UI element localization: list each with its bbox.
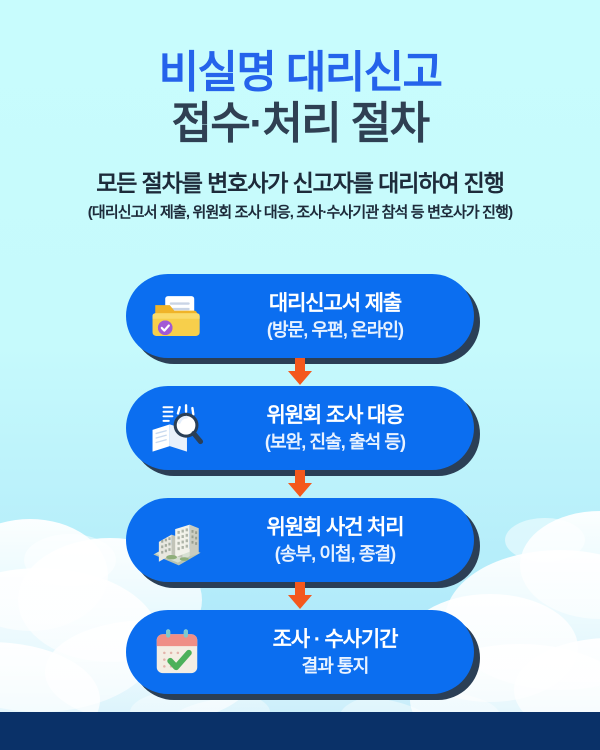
office-building-icon [144,507,210,573]
step-subtitle: (송부, 이첩, 종결) [210,545,460,563]
page-subtitle: 모든 절차를 변호사가 신고자를 대리하여 진행 [0,169,600,197]
step-subtitle: (방문, 우편, 온라인) [210,321,460,339]
step-pill[interactable]: 조사 · 수사기간 결과 통지 [126,610,474,694]
step-subtitle: (보완, 진술, 출석 등) [210,433,460,451]
page-title-line-2: 접수·처리 절차 [0,98,600,150]
step-pill[interactable]: 위원회 조사 대응 (보완, 진술, 출석 등) [126,386,474,470]
process-steps-list: 대리신고서 제출 (방문, 우편, 온라인) [0,274,600,702]
infographic-poster: 비실명 대리신고 접수·처리 절차 모든 절차를 변호사가 신고자를 대리하여 … [0,0,600,750]
down-arrow-icon [285,470,315,498]
magnifier-document-icon [144,395,210,461]
process-step-3: 위원회 사건 처리 (송부, 이첩, 종결) [0,498,600,610]
step-title: 조사 · 수사기간 [210,629,460,650]
page-subnote: (대리신고서 제출, 위원회 조사 대응, 조사·수사기관 참석 등 변호사가 … [0,203,600,223]
down-arrow-icon [285,582,315,610]
bottom-bar [0,712,600,750]
down-arrow-icon [285,358,315,386]
poster-header: 비실명 대리신고 접수·처리 절차 모든 절차를 변호사가 신고자를 대리하여 … [0,0,600,223]
step-text: 조사 · 수사기간 결과 통지 [210,629,474,675]
page-title-line-1: 비실명 대리신고 [0,48,600,98]
step-subtitle: 결과 통지 [210,657,460,675]
process-step-4: 조사 · 수사기간 결과 통지 [0,610,600,702]
process-step-2: 위원회 조사 대응 (보완, 진술, 출석 등) [0,386,600,498]
folder-documents-icon [144,283,210,349]
step-text: 위원회 사건 처리 (송부, 이첩, 종결) [210,517,474,563]
step-pill[interactable]: 위원회 사건 처리 (송부, 이첩, 종결) [126,498,474,582]
calendar-check-icon [144,619,210,685]
step-pill[interactable]: 대리신고서 제출 (방문, 우편, 온라인) [126,274,474,358]
step-title: 위원회 조사 대응 [210,405,460,426]
step-text: 대리신고서 제출 (방문, 우편, 온라인) [210,293,474,339]
step-title: 대리신고서 제출 [210,293,460,314]
step-text: 위원회 조사 대응 (보완, 진술, 출석 등) [210,405,474,451]
process-step-1: 대리신고서 제출 (방문, 우편, 온라인) [0,274,600,386]
step-title: 위원회 사건 처리 [210,517,460,538]
